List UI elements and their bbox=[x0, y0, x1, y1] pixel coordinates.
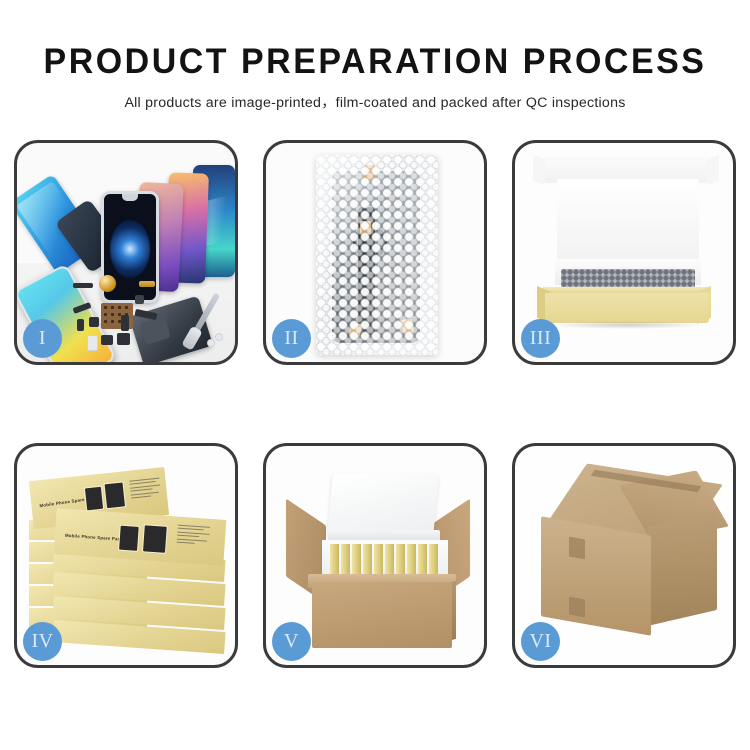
tape-patch bbox=[569, 537, 585, 560]
box-window bbox=[142, 524, 168, 554]
small-part-icon bbox=[139, 281, 155, 287]
tape-patch bbox=[569, 597, 585, 618]
step-panel-carton-loading: V bbox=[263, 443, 487, 668]
step-panel-carton-sealed: VI bbox=[512, 443, 736, 668]
step-badge: V bbox=[272, 622, 311, 661]
page-subtitle: All products are image-printed，film-coat… bbox=[0, 79, 750, 112]
step-badge: IV bbox=[23, 622, 62, 661]
plastic-sheen bbox=[316, 155, 438, 355]
drop-shadow bbox=[549, 321, 705, 329]
small-part-icon bbox=[73, 283, 93, 288]
step-panel-parts-inspection: I bbox=[14, 140, 238, 365]
step-panel-foam-boxing: III bbox=[512, 140, 736, 365]
step-badge: I bbox=[23, 319, 62, 358]
box-spec-lines bbox=[129, 477, 167, 501]
small-part-icon bbox=[207, 339, 215, 347]
step-badge: II bbox=[272, 319, 311, 358]
box-spec-lines bbox=[177, 525, 214, 548]
step-badge: VI bbox=[521, 622, 560, 661]
carton-front-face bbox=[541, 516, 651, 635]
small-part-icon bbox=[215, 333, 223, 341]
page-title: PRODUCT PREPARATION PROCESS bbox=[11, 0, 739, 79]
open-carton bbox=[288, 466, 468, 648]
process-steps-grid: I bbox=[14, 140, 736, 668]
carton-right-face bbox=[647, 510, 717, 626]
small-part-icon bbox=[77, 319, 84, 331]
small-part-icon bbox=[101, 335, 113, 345]
speaker-module-icon bbox=[99, 275, 116, 292]
box-stack: Mobile Phone Spare Parts Mobile Phone bbox=[25, 462, 231, 652]
process-row-bottom: Mobile Phone Spare Parts Mobile Phone bbox=[14, 443, 736, 668]
header: PRODUCT PREPARATION PROCESS All products… bbox=[0, 0, 750, 112]
foam-lid-icon bbox=[327, 474, 438, 536]
small-part-icon bbox=[117, 333, 130, 345]
step-panel-bubble-wrapping: II bbox=[263, 140, 487, 365]
step-badge: III bbox=[521, 319, 560, 358]
bubble-bag bbox=[316, 155, 438, 355]
carton-front-face bbox=[312, 582, 452, 648]
box-window bbox=[84, 486, 104, 512]
box-window bbox=[118, 525, 140, 552]
small-part-icon bbox=[87, 335, 98, 351]
box-front-face bbox=[545, 293, 709, 323]
small-part-icon bbox=[89, 317, 99, 327]
step-panel-box-stacking: Mobile Phone Spare Parts Mobile Phone bbox=[14, 443, 238, 668]
product-preparation-infographic: PRODUCT PREPARATION PROCESS All products… bbox=[0, 0, 750, 750]
small-part-icon bbox=[135, 295, 144, 304]
process-row-top: I bbox=[14, 140, 736, 365]
box-window bbox=[104, 481, 127, 509]
sealed-carton bbox=[535, 474, 721, 634]
small-part-icon bbox=[121, 315, 129, 331]
